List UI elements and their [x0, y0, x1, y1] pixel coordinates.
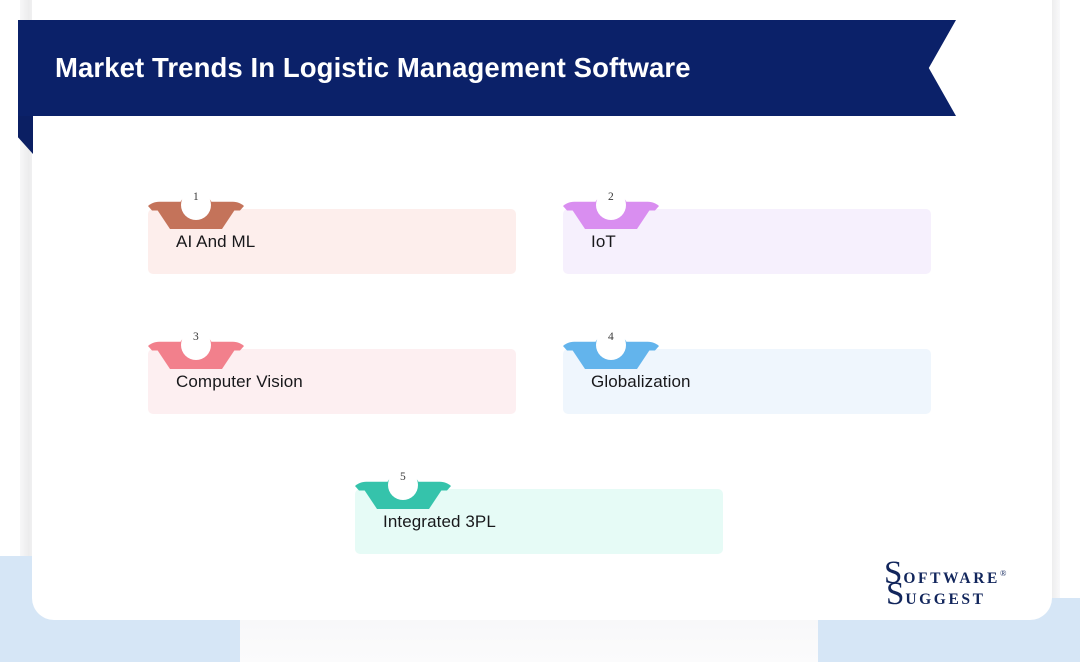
trend-number: 1: [148, 180, 244, 214]
registered-trademark-icon: ®: [1000, 568, 1006, 578]
title-ribbon: Market Trends In Logistic Management Sof…: [18, 20, 958, 135]
logo-capital-s-suggest: S: [886, 581, 904, 608]
logo-text-suggest: UGGEST: [905, 591, 985, 609]
numbered-basket-icon: 2: [563, 168, 659, 230]
numbered-basket-icon: 1: [148, 168, 244, 230]
trend-item[interactable]: AI And ML1: [148, 168, 516, 274]
trend-item[interactable]: IoT2: [563, 168, 931, 274]
numbered-basket-icon: 4: [563, 308, 659, 370]
page-title: Market Trends In Logistic Management Sof…: [55, 20, 691, 116]
numbered-basket-icon: 3: [148, 308, 244, 370]
background-light-band-center: [240, 620, 826, 662]
infographic-canvas: Market Trends In Logistic Management Sof…: [0, 0, 1080, 662]
numbered-basket-icon: 5: [355, 448, 451, 510]
trend-item[interactable]: Computer Vision3: [148, 308, 516, 414]
trend-item[interactable]: Integrated 3PL5: [355, 448, 723, 554]
trend-number: 5: [355, 460, 451, 494]
trend-item[interactable]: Globalization4: [563, 308, 931, 414]
trend-number: 3: [148, 320, 244, 354]
logo-line-suggest: S UGGEST: [886, 581, 986, 609]
softwaresuggest-logo: S OFTWARE ® S UGGEST: [884, 560, 1044, 612]
trend-number: 4: [563, 320, 659, 354]
trend-number: 2: [563, 180, 659, 214]
